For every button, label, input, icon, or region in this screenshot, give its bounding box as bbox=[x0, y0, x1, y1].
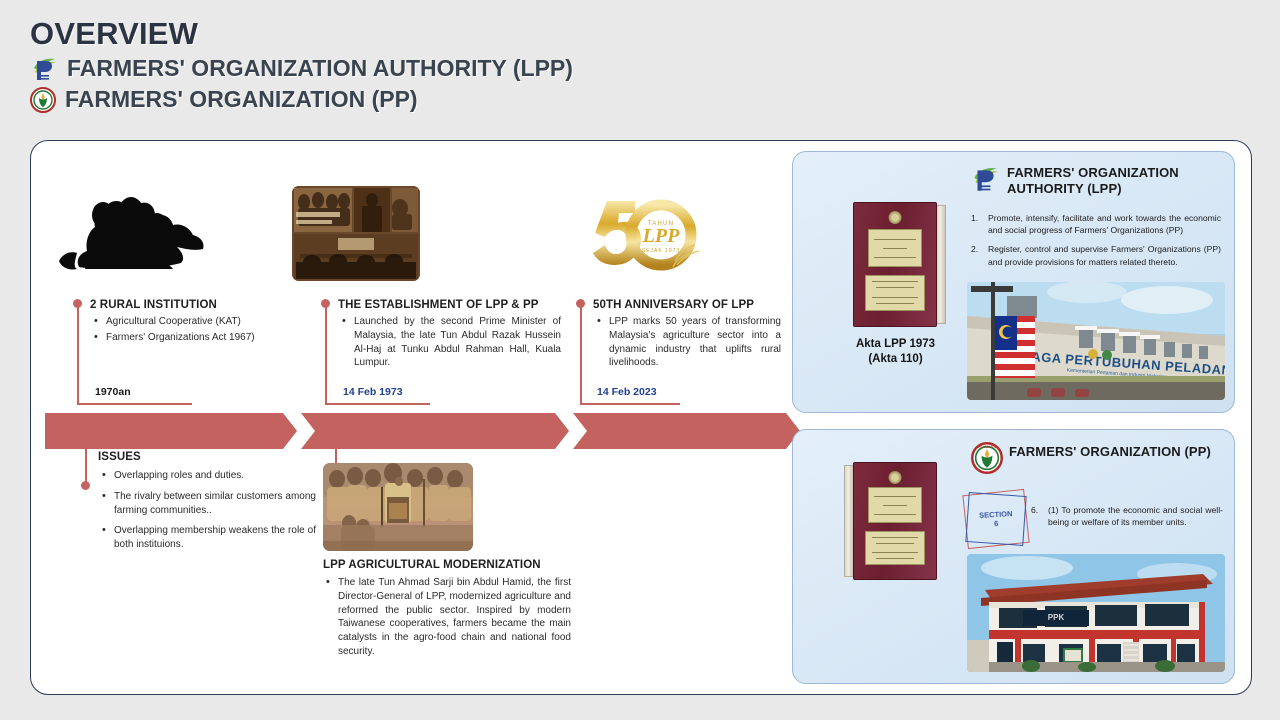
date-underline bbox=[77, 403, 192, 405]
milestone-date-3: 14 Feb 2023 bbox=[597, 386, 657, 398]
panel-pp-items: 6. (1) To promote the economic and socia… bbox=[1031, 504, 1223, 535]
pp-logo-icon bbox=[30, 87, 56, 113]
item-text: (1) To promote the economic and social w… bbox=[1048, 505, 1223, 527]
malaysia-emblem-icon bbox=[889, 471, 902, 484]
milestone-stem bbox=[77, 307, 79, 405]
list-item: Launched by the second Prime Minister of… bbox=[341, 315, 561, 370]
item-text: Promote, intensify, facilitate and work … bbox=[988, 213, 1221, 235]
book-cover bbox=[853, 462, 937, 580]
milestone-heading: 2 RURAL INSTITUTION bbox=[90, 299, 318, 311]
milestone-stem bbox=[580, 307, 582, 405]
milestone-3: 50TH ANNIVERSARY OF LPP LPP marks 50 yea… bbox=[576, 299, 781, 372]
issues-heading: ISSUES bbox=[98, 451, 316, 463]
list-item: 2. Register, control and supervise Farme… bbox=[971, 243, 1221, 267]
lpp-logo-icon bbox=[30, 55, 58, 83]
pp-office-building-photo: PPK bbox=[967, 554, 1225, 672]
milestone-heading: 50TH ANNIVERSARY OF LPP bbox=[593, 299, 781, 311]
milestone-date-2: 14 Feb 1973 bbox=[343, 386, 403, 398]
book-pages bbox=[936, 205, 946, 324]
list-item: Overlapping membership weakens the role … bbox=[101, 524, 316, 552]
panel-lpp: FARMERS' ORGANIZATION AUTHORITY (LPP) 1.… bbox=[792, 151, 1235, 413]
content-board: 2 RURAL INSTITUTION Agricultural Coopera… bbox=[30, 140, 1252, 695]
item-number: 1. bbox=[971, 212, 978, 224]
farmers-gathering-photo bbox=[323, 463, 473, 551]
svg-text:PELADANG: PELADANG bbox=[978, 445, 996, 449]
timeline-arrow bbox=[45, 413, 800, 449]
item-number: 2. bbox=[971, 243, 978, 255]
date-underline bbox=[325, 403, 430, 405]
list-item: Farmers' Organizations Act 1967) bbox=[93, 331, 318, 345]
header-line-pp: FARMERS' ORGANIZATION (PP) bbox=[30, 87, 573, 113]
header-line-lpp: FARMERS' ORGANIZATION AUTHORITY (LPP) bbox=[30, 55, 573, 83]
akta-pp-book-image bbox=[853, 462, 937, 580]
book-subtitle-plate bbox=[865, 531, 925, 565]
header-subtitle-pp: FARMERS' ORGANIZATION (PP) bbox=[65, 87, 418, 112]
malaysia-emblem-icon bbox=[889, 211, 902, 224]
milestone-stem bbox=[325, 307, 327, 405]
issues-bullets: Overlapping roles and duties. The rivalr… bbox=[101, 469, 316, 552]
list-item: The rivalry between similar customers am… bbox=[101, 490, 316, 518]
milestone-bullets: Launched by the second Prime Minister of… bbox=[341, 315, 561, 370]
milestone-2: THE ESTABLISHMENT OF LPP & PP Launched b… bbox=[321, 299, 561, 372]
timeline-segment-1 bbox=[45, 413, 297, 449]
akta-lpp-caption: Akta LPP 1973 (Akta 110) bbox=[833, 337, 958, 367]
book-title-plate bbox=[868, 229, 922, 267]
lpp-launch-collage-photo bbox=[292, 186, 420, 281]
milestone-stem bbox=[85, 413, 87, 483]
milestone-1: 2 RURAL INSTITUTION Agricultural Coopera… bbox=[73, 299, 318, 347]
rural-families-silhouette bbox=[45, 189, 210, 279]
milestone-date-1: 1970an bbox=[95, 386, 131, 398]
section-6-stamp-icon: SECTION 6 bbox=[965, 492, 1027, 546]
lpp-50th-anniversary-logo: TAHUN LPP SEJAK 1973 bbox=[583, 191, 703, 281]
milestone-bullets: LPP marks 50 years of transforming Malay… bbox=[596, 315, 781, 370]
lpp-logo-icon bbox=[970, 164, 1000, 194]
panel-pp: PELADANG FARMERS' ORGANIZATION (PP) SECT… bbox=[792, 429, 1235, 684]
panel-title-lpp: FARMERS' ORGANIZATION AUTHORITY (LPP) bbox=[1007, 165, 1207, 197]
modernization-heading: LPP AGRICULTURAL MODERNIZATION bbox=[323, 559, 571, 571]
stamp-label: SECTION 6 bbox=[964, 490, 1029, 547]
list-item: The late Tun Ahmad Sarji bin Abdul Hamid… bbox=[325, 576, 571, 659]
timeline-segment-3 bbox=[573, 413, 800, 449]
slide-header: OVERVIEW FARMERS' ORGANIZATION AUTHORITY… bbox=[30, 18, 573, 113]
page-title: OVERVIEW bbox=[30, 18, 573, 51]
svg-text:LPP: LPP bbox=[642, 225, 680, 247]
timeline-segment-2 bbox=[301, 413, 569, 449]
modernization-bullets: The late Tun Ahmad Sarji bin Abdul Hamid… bbox=[325, 576, 571, 659]
milestone-bullets: Agricultural Cooperative (KAT) Farmers' … bbox=[93, 315, 318, 345]
svg-text:SEJAK 1973: SEJAK 1973 bbox=[642, 248, 680, 254]
svg-text:PPK: PPK bbox=[1048, 613, 1065, 622]
date-underline bbox=[580, 403, 680, 405]
akta-lpp-book-image bbox=[853, 202, 937, 327]
modernization-block: LPP AGRICULTURAL MODERNIZATION The late … bbox=[323, 559, 571, 661]
stamp-line-2: 6 bbox=[994, 519, 999, 529]
book-title-plate bbox=[868, 487, 922, 523]
header-subtitle-lpp: FARMERS' ORGANIZATION AUTHORITY (LPP) bbox=[67, 56, 573, 81]
list-item: 1. Promote, intensify, facilitate and wo… bbox=[971, 212, 1221, 236]
milestone-stem bbox=[335, 427, 337, 467]
book-cover bbox=[853, 202, 937, 327]
panel-lpp-items: 1. Promote, intensify, facilitate and wo… bbox=[971, 212, 1221, 275]
item-number: 6. bbox=[1031, 504, 1038, 516]
item-text: Register, control and supervise Farmers'… bbox=[988, 244, 1221, 266]
list-item: Agricultural Cooperative (KAT) bbox=[93, 315, 318, 329]
book-subtitle-plate bbox=[865, 275, 925, 311]
issues-block: ISSUES Overlapping roles and duties. The… bbox=[81, 451, 316, 554]
panel-title-pp: FARMERS' ORGANIZATION (PP) bbox=[1009, 444, 1214, 460]
list-item: Overlapping roles and duties. bbox=[101, 469, 316, 483]
milestone-heading: THE ESTABLISHMENT OF LPP & PP bbox=[338, 299, 561, 311]
list-item: LPP marks 50 years of transforming Malay… bbox=[596, 315, 781, 370]
pp-logo-icon: PELADANG bbox=[971, 442, 1003, 474]
list-item: 6. (1) To promote the economic and socia… bbox=[1031, 504, 1223, 528]
slide-root: OVERVIEW FARMERS' ORGANIZATION AUTHORITY… bbox=[0, 0, 1280, 720]
lpp-headquarters-building-photo: LEMBAGA PERTUBUHAN PELADANG Kementerian … bbox=[967, 282, 1225, 400]
